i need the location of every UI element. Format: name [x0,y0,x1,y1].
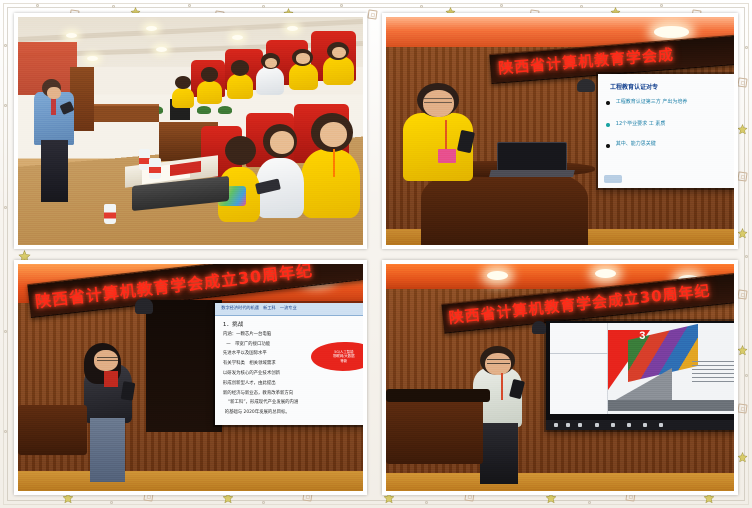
photo-bottom-left[interactable]: 陕西省计算机教育学会成立30周年纪 数字经济时代的机遇 新工科 一流专业 1．挑… [14,260,367,495]
photo-top-right[interactable]: 陕西省计算机教育学会成 工程教育认证对专 工程教育认证第三方 产出为培养 12个… [382,13,738,249]
photo-top-left-content [18,17,363,245]
photo-grain [386,17,734,245]
photo-grid: 陕西省计算机教育学会成 工程教育认证对专 工程教育认证第三方 产出为培养 12个… [14,13,738,495]
photo-grain [18,17,363,245]
photo-top-left[interactable] [14,13,367,249]
photo-grain [18,264,363,491]
photo-collage: 陕西省计算机教育学会成 工程教育认证对专 工程教育认证第三方 产出为培养 12个… [0,0,752,508]
photo-bottom-left-content: 陕西省计算机教育学会成立30周年纪 数字经济时代的机遇 新工科 一流专业 1．挑… [18,264,363,491]
photo-bottom-right[interactable]: 陕西省计算机教育学会成立30周年纪 3 [382,260,738,495]
photo-bottom-right-content: 陕西省计算机教育学会成立30周年纪 3 [386,264,734,491]
photo-top-right-content: 陕西省计算机教育学会成 工程教育认证对专 工程教育认证第三方 产出为培养 12个… [386,17,734,245]
photo-grain [386,264,734,491]
